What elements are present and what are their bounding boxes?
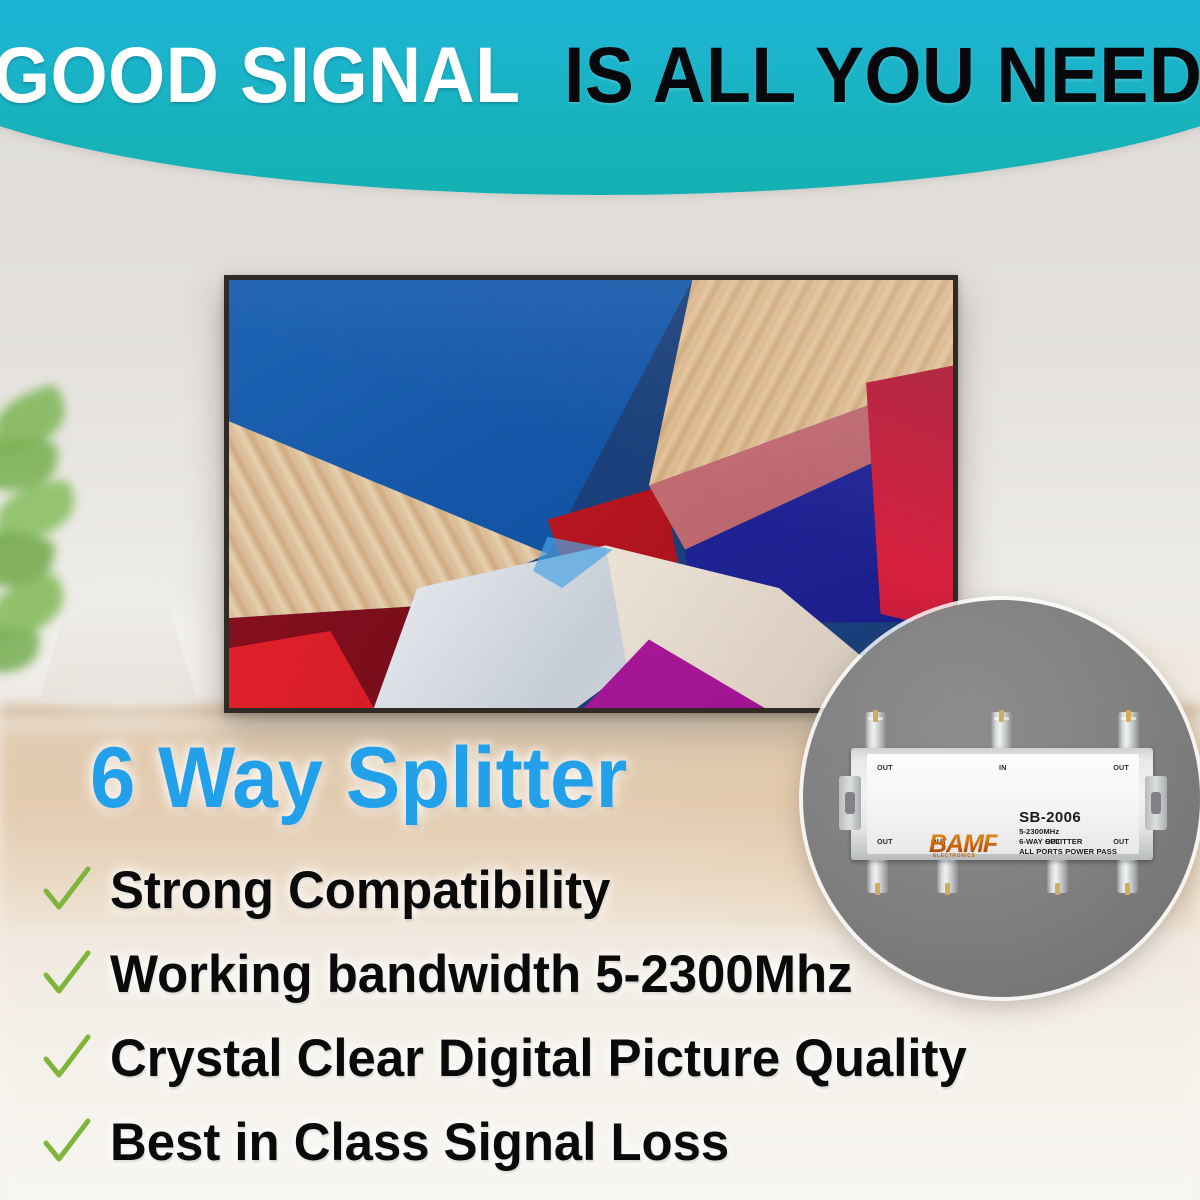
splitter-face-label: OUT IN OUT OUT OUT OUT OUT BAMF ELECTRON…	[867, 754, 1139, 854]
device-spec-bandwidth: 5-2300MHz	[1019, 827, 1117, 837]
port-pin	[1125, 883, 1130, 895]
wall-mounted-tv	[224, 275, 958, 713]
feature-label: Strong Compatibility	[110, 864, 610, 917]
headline-white-part: GOOD SIGNAL	[0, 29, 521, 121]
product-closeup-circle: OUT IN OUT OUT OUT OUT OUT BAMF ELECTRON…	[803, 600, 1200, 997]
feature-label: Best in Class Signal Loss	[110, 1116, 729, 1169]
port-label-top-1: OUT	[877, 763, 893, 772]
mounting-tab-right	[1145, 776, 1167, 830]
artwork-gloss-overlay	[229, 280, 953, 708]
check-icon	[38, 1114, 94, 1170]
feature-label: Crystal Clear Digital Picture Quality	[110, 1032, 967, 1085]
house-plant	[0, 395, 95, 685]
port-label-top-3: OUT	[1113, 763, 1129, 772]
coax-port-top-3	[1118, 712, 1139, 752]
feature-item: Crystal Clear Digital Picture Quality	[38, 1016, 1078, 1100]
banner-headline: GOOD SIGNAL IS ALL YOU NEED	[0, 30, 1200, 120]
port-label-top-2: IN	[999, 763, 1007, 772]
product-poster: GOOD SIGNAL IS ALL YOU NEED 6 Way Splitt…	[0, 0, 1200, 1200]
check-icon	[38, 1030, 94, 1086]
brand-sublabel: ELECTRONICS	[933, 853, 975, 859]
port-pin	[875, 883, 880, 895]
port-pin	[999, 710, 1004, 722]
port-pin	[1126, 710, 1131, 722]
coax-port-top-2	[991, 712, 1012, 752]
coax-splitter-device: OUT IN OUT OUT OUT OUT OUT BAMF ELECTRON…	[833, 710, 1173, 895]
port-pin	[1055, 883, 1060, 895]
coax-port-top-1	[865, 712, 886, 752]
check-icon	[38, 946, 94, 1002]
feature-item: Best in Class Signal Loss	[38, 1100, 1078, 1184]
headline-black-part: IS ALL YOU NEED	[564, 29, 1200, 121]
mounting-tab-left	[839, 776, 861, 830]
product-title: 6 Way Splitter	[90, 735, 627, 821]
check-icon	[38, 862, 94, 918]
device-spec-power: ALL PORTS POWER PASS	[1019, 847, 1117, 857]
device-spec-type: 6-WAY SPLITTER	[1019, 837, 1117, 847]
port-pin	[873, 710, 878, 722]
device-spec-block: SB-2006 5-2300MHz 6-WAY SPLITTER ALL POR…	[1019, 810, 1117, 857]
feature-label: Working bandwidth 5-2300Mhz	[110, 948, 853, 1001]
port-label-bottom-1: OUT	[877, 837, 893, 846]
port-pin	[945, 883, 950, 895]
device-model-number: SB-2006	[1019, 810, 1117, 827]
tv-screen	[229, 280, 953, 708]
